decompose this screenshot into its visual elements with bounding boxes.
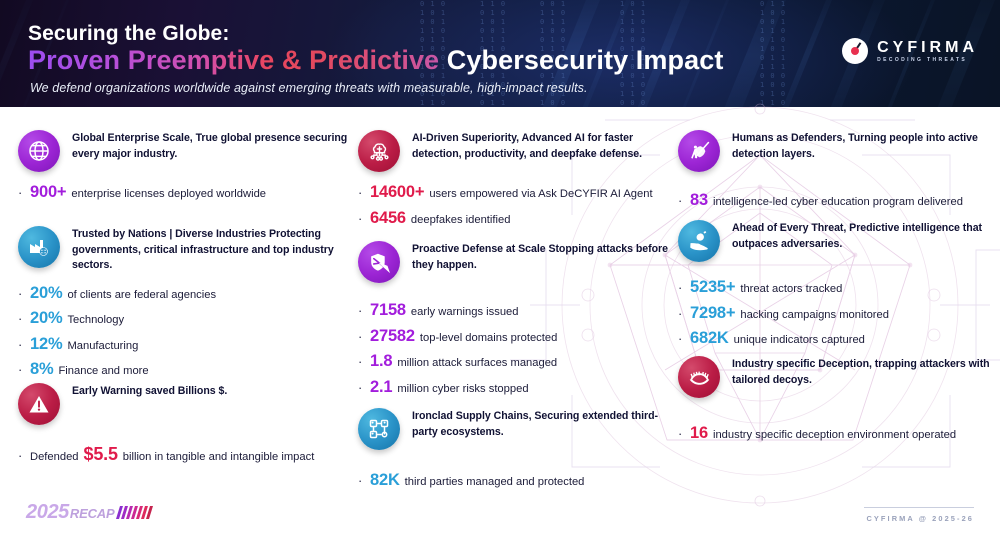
stat-label: Manufacturing — [67, 341, 138, 352]
stat-value: 16 — [690, 425, 708, 442]
bullet-dot: · — [18, 449, 25, 462]
supply-chain-nodes-icon — [358, 408, 400, 450]
stat-row: · 6456 deepfakes identified — [358, 210, 678, 227]
stat-value: 20% — [30, 285, 62, 302]
bullet-dot: · — [678, 281, 685, 294]
logo-name: CYFIRMA — [877, 40, 978, 56]
stat-label: top-level domains protected — [420, 333, 557, 344]
stat-value: 83 — [690, 192, 708, 209]
stat-value: 7158 — [370, 302, 406, 319]
stat-label: industry specific deception environment … — [713, 430, 956, 441]
bullet-dot: · — [358, 186, 365, 199]
globe-icon — [18, 130, 60, 172]
stat-value: 14600+ — [370, 184, 424, 201]
footer-divider — [864, 507, 974, 508]
block-ironclad-supply-chains: Ironclad Supply Chains, Securing extende… — [358, 407, 678, 489]
title-plain-text: Cybersecurity Impact — [447, 45, 724, 75]
bullet-dot: · — [18, 338, 25, 351]
stat-value: 6456 — [370, 210, 406, 227]
page-subtitle-title: Proven Preemptive & Predictive Cybersecu… — [28, 45, 723, 76]
stat-row: · 682K unique indicators captured — [678, 330, 998, 347]
stat-label: deepfakes identified — [411, 215, 511, 226]
stat-value: 5235+ — [690, 279, 735, 296]
stat-row: · 83 intelligence-led cyber education pr… — [678, 192, 998, 209]
block-proactive-defense: Proactive Defense at Scale Stopping atta… — [358, 240, 678, 395]
page-header: 0 1 0 1 0 1 0 0 1 1 1 0 0 1 1 1 0 0 0 1 … — [0, 0, 1000, 107]
stat-label: Technology — [67, 315, 124, 326]
block-heading: Early Warning saved Billions $. — [72, 382, 227, 400]
stat-label: intelligence-led cyber education program… — [713, 197, 963, 208]
warning-triangle-icon — [18, 383, 60, 425]
page-footer: 2025 RECAP CYFIRMA @ 2025-26 — [0, 487, 1000, 535]
stat-row: · 16 industry specific deception environ… — [678, 425, 998, 442]
cyfirma-radar-icon — [842, 38, 868, 64]
stat-row: · 27582 top-level domains protected — [358, 328, 678, 345]
content-columns: Global Enterprise Scale, True global pre… — [0, 107, 1000, 487]
block-heading: Proactive Defense at Scale Stopping atta… — [412, 240, 678, 273]
stat-value: 7298+ — [690, 305, 735, 322]
header-binary-decoration: 0 1 1 1 0 0 0 0 1 1 1 0 0 1 0 1 0 1 0 1 … — [760, 0, 786, 107]
stat-label: hacking campaigns monitored — [740, 310, 889, 321]
stat-row: · 7158 early warnings issued — [358, 302, 678, 319]
stat-label: million attack surfaces managed — [397, 358, 557, 369]
block-heading: AI-Driven Superiority, Advanced AI for f… — [412, 129, 678, 162]
stat-value: 20% — [30, 310, 62, 327]
block-heading: Ironclad Supply Chains, Securing extende… — [412, 407, 678, 440]
block-heading: Humans as Defenders, Turning people into… — [732, 129, 998, 162]
stat-value: 1.8 — [370, 353, 392, 370]
stat-label: Finance and more — [58, 366, 148, 377]
stat-row: · 7298+ hacking campaigns monitored — [678, 305, 998, 322]
block-early-warning: Early Warning saved Billions $. · Defend… — [18, 382, 348, 463]
block-heading: Trusted by Nations | Diverse Industries … — [72, 225, 348, 274]
bullet-dot: · — [358, 212, 365, 225]
copyright-text: CYFIRMA @ 2025-26 — [866, 514, 974, 523]
stat-value: 8% — [30, 361, 53, 378]
stat-value: 900+ — [30, 184, 66, 201]
recap-stripes-icon — [118, 506, 151, 519]
stat-label: million cyber risks stopped — [397, 384, 528, 395]
cyfirma-logo: CYFIRMA DECODING THREATS — [842, 38, 978, 64]
bullet-dot: · — [678, 332, 685, 345]
block-humans-as-defenders: Humans as Defenders, Turning people into… — [678, 129, 998, 209]
recap-word: RECAP — [70, 506, 115, 521]
shield-arrow-icon — [358, 241, 400, 283]
bullet-dot: · — [18, 287, 25, 300]
hand-crystal-ball-icon — [678, 220, 720, 262]
stat-row: · Defended $5.5 billion in tangible and … — [18, 445, 348, 463]
stat-value: $5.5 — [84, 445, 118, 463]
stat-row: · 1.8 million attack surfaces managed — [358, 353, 678, 370]
block-heading: Industry specific Deception, trapping at… — [732, 355, 998, 388]
bullet-dot: · — [358, 330, 365, 343]
stat-row: · 2.1 million cyber risks stopped — [358, 379, 678, 396]
bullet-dot: · — [678, 427, 685, 440]
page-tagline: We defend organizations worldwide agains… — [30, 81, 588, 95]
stat-value: 27582 — [370, 328, 415, 345]
stat-label: threat actors tracked — [740, 284, 842, 295]
stat-value: 12% — [30, 336, 62, 353]
bullet-dot: · — [358, 355, 365, 368]
warrior-shield-spear-icon — [678, 130, 720, 172]
recap-logo: 2025 RECAP — [26, 501, 151, 524]
stat-label: users empowered via Ask DeCYFIR AI Agent — [429, 189, 652, 200]
stat-row: · 12% Manufacturing — [18, 336, 348, 353]
bear-trap-icon — [678, 356, 720, 398]
bullet-dot: · — [18, 363, 25, 376]
recap-year: 2025 — [26, 501, 69, 524]
page-title: Securing the Globe: — [28, 22, 229, 46]
block-trusted-by-nations: Trusted by Nations | Diverse Industries … — [18, 225, 348, 378]
block-global-enterprise-scale: Global Enterprise Scale, True global pre… — [18, 129, 348, 201]
stat-row: · 20% of clients are federal agencies — [18, 285, 348, 302]
infographic-page: 0 1 0 1 0 1 0 0 1 1 1 0 0 1 1 1 0 0 0 1 … — [0, 0, 1000, 535]
ai-cloud-brain-icon — [358, 130, 400, 172]
stat-row: · 20% Technology — [18, 310, 348, 327]
bullet-dot: · — [358, 381, 365, 394]
stat-value: 2.1 — [370, 379, 392, 396]
block-heading: Ahead of Every Threat, Predictive intell… — [732, 219, 998, 252]
factory-globe-icon — [18, 226, 60, 268]
stat-prefix: Defended — [30, 452, 79, 463]
title-accent-text: Proven Preemptive & Predictive — [28, 45, 439, 75]
block-ai-driven-superiority: AI-Driven Superiority, Advanced AI for f… — [358, 129, 678, 226]
stat-label: early warnings issued — [411, 307, 519, 318]
stat-label: billion in tangible and intangible impac… — [123, 452, 315, 463]
stat-label: unique indicators captured — [734, 335, 865, 346]
bullet-dot: · — [678, 194, 685, 207]
block-heading: Global Enterprise Scale, True global pre… — [72, 129, 348, 162]
stat-row: · 900+ enterprise licenses deployed worl… — [18, 184, 348, 201]
stat-row: · 14600+ users empowered via Ask DeCYFIR… — [358, 184, 678, 201]
stat-row: · 8% Finance and more — [18, 361, 348, 378]
bullet-dot: · — [358, 474, 365, 487]
stat-label: of clients are federal agencies — [67, 290, 216, 301]
bullet-dot: · — [18, 312, 25, 325]
logo-tagline: DECODING THREATS — [877, 58, 978, 63]
block-ahead-of-every-threat: Ahead of Every Threat, Predictive intell… — [678, 219, 998, 347]
bullet-dot: · — [678, 307, 685, 320]
block-industry-specific-deception: Industry specific Deception, trapping at… — [678, 355, 998, 442]
stat-value: 682K — [690, 330, 729, 347]
stat-row: · 5235+ threat actors tracked — [678, 279, 998, 296]
bullet-dot: · — [18, 186, 25, 199]
stat-label: enterprise licenses deployed worldwide — [71, 189, 266, 200]
bullet-dot: · — [358, 304, 365, 317]
